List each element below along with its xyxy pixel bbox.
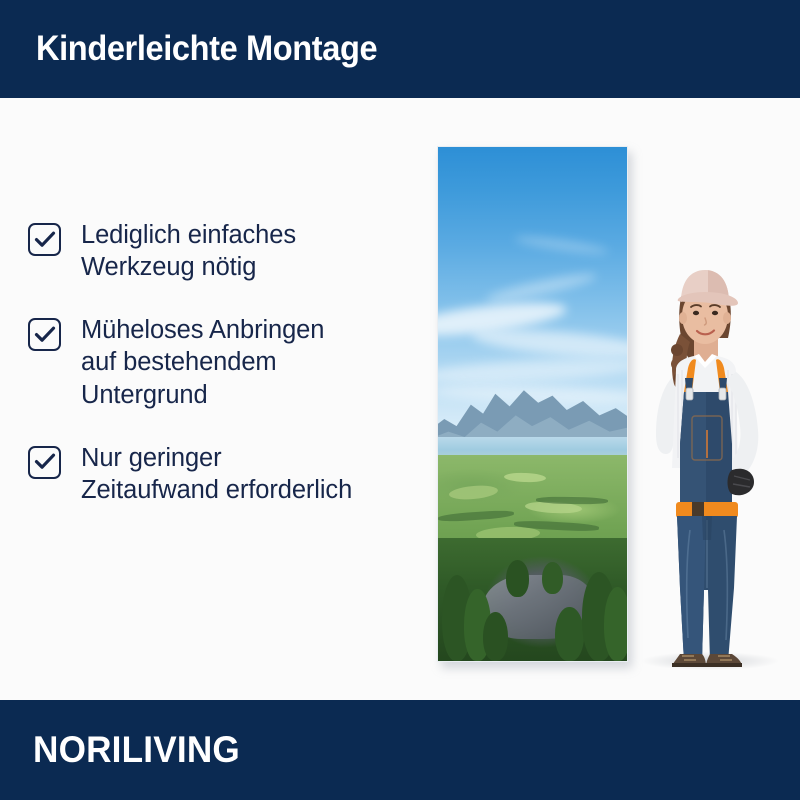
list-item: Nur geringer Zeitaufwand erforderlich [28,441,428,506]
list-item: Lediglich einfaches Werkzeug nötig [28,218,428,283]
checkbox-checked-icon [28,318,61,351]
brand-logo: NORILIVING [33,729,240,771]
product-panel: Hochformatiges Wandbild mit Bergpanorama… [437,146,628,662]
promo-banner: Kinderleichte Montage Lediglich einfache… [0,0,800,800]
feature-list: Lediglich einfaches Werkzeug nötig Mühel… [28,218,428,536]
cliff-foreground [438,538,627,661]
list-item: Müheloses Anbringen auf bestehendem Unte… [28,313,428,410]
person-icon [632,258,780,668]
feature-text: Müheloses Anbringen auf bestehendem Unte… [81,313,324,410]
feature-text: Nur geringer Zeitaufwand erforderlich [81,441,352,506]
footer-bar: NORILIVING [0,700,800,800]
page-title: Kinderleichte Montage [36,29,377,69]
checkbox-checked-icon [28,223,61,256]
checkbox-checked-icon [28,446,61,479]
header-bar: Kinderleichte Montage [0,0,800,98]
feature-text: Lediglich einfaches Werkzeug nötig [81,218,296,283]
landscape-panel-icon [437,146,628,662]
